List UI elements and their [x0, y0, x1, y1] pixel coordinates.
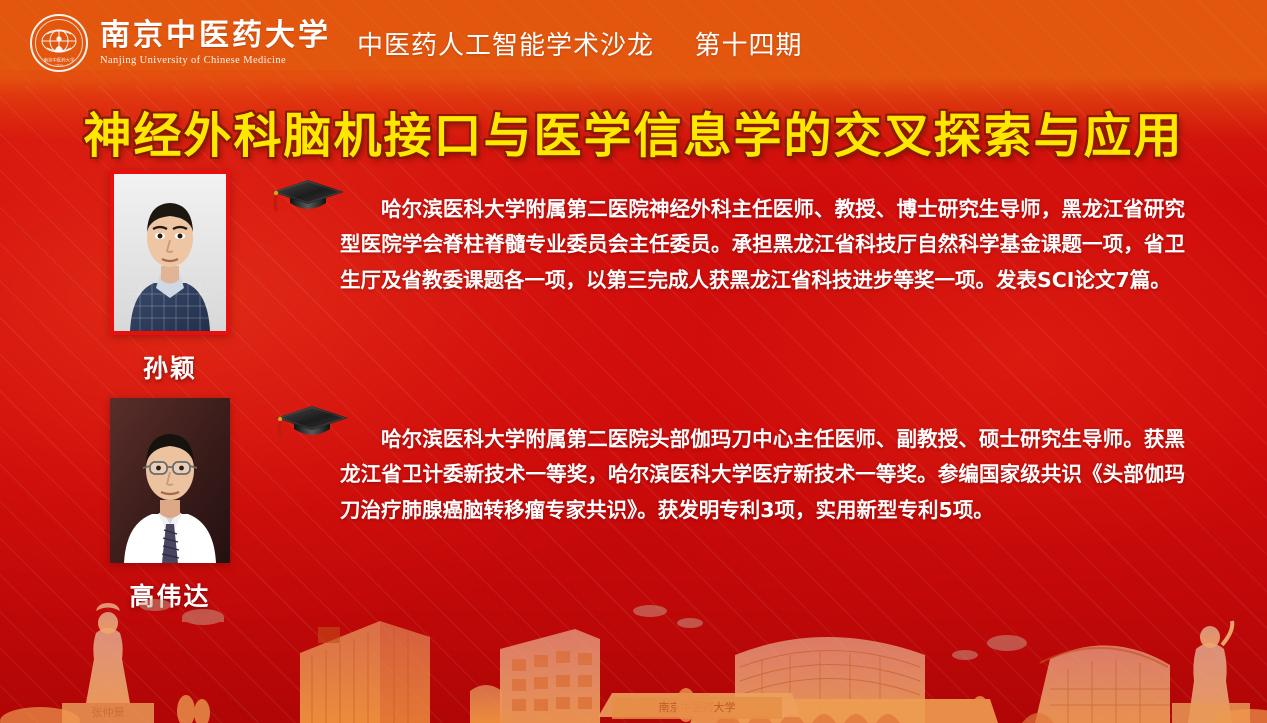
svg-text:1954: 1954 — [55, 64, 63, 68]
speaker-1-name: 孙颖 — [110, 349, 230, 385]
speaker-1-portrait — [110, 170, 230, 335]
presentation-slide: 南京中医药大学 1954 南京中医药大学 Nanjing University … — [0, 0, 1267, 723]
speaker-2-name: 高伟达 — [110, 577, 230, 613]
speaker-2-portrait — [110, 398, 230, 563]
graduation-cap-icon — [268, 172, 348, 220]
svg-text:张仲景: 张仲景 — [92, 705, 125, 719]
svg-text:南京中医药大学: 南京中医药大学 — [659, 700, 736, 714]
series-heading: 中医药人工智能学术沙龙 第十四期 — [357, 25, 803, 62]
university-name-en: Nanjing University of Chinese Medicine — [100, 55, 331, 66]
speaker-2-bio: 哈尔滨医科大学附属第二医院头部伽玛刀中心主任医师、副教授、硕士研究生导师。获黑龙… — [340, 422, 1185, 528]
statue-zhangzhongjing — [62, 603, 154, 723]
speaker-2-photo-column: 高伟达 — [110, 398, 230, 613]
university-name-cn: 南京中医药大学 — [100, 20, 331, 52]
speaker-1-photo-column: 孙颖 — [110, 170, 230, 385]
university-seal-icon: 南京中医药大学 1954 — [30, 14, 88, 72]
series-title: 中医药人工智能学术沙龙 — [357, 31, 654, 61]
svg-text:南京中医药大学: 南京中医药大学 — [44, 57, 75, 64]
university-wordmark: 南京中医药大学 Nanjing University of Chinese Me… — [100, 20, 331, 66]
page-title: 神经外科脑机接口与医学信息学的交叉探索与应用 — [0, 96, 1267, 166]
speaker-1-bio: 哈尔滨医科大学附属第二医院神经外科主任医师、教授、博士研究生导师，黑龙江省研究型… — [340, 192, 1185, 298]
series-issue: 第十四期 — [695, 31, 803, 61]
slide-header: 南京中医药大学 1954 南京中医药大学 Nanjing University … — [0, 0, 1267, 86]
